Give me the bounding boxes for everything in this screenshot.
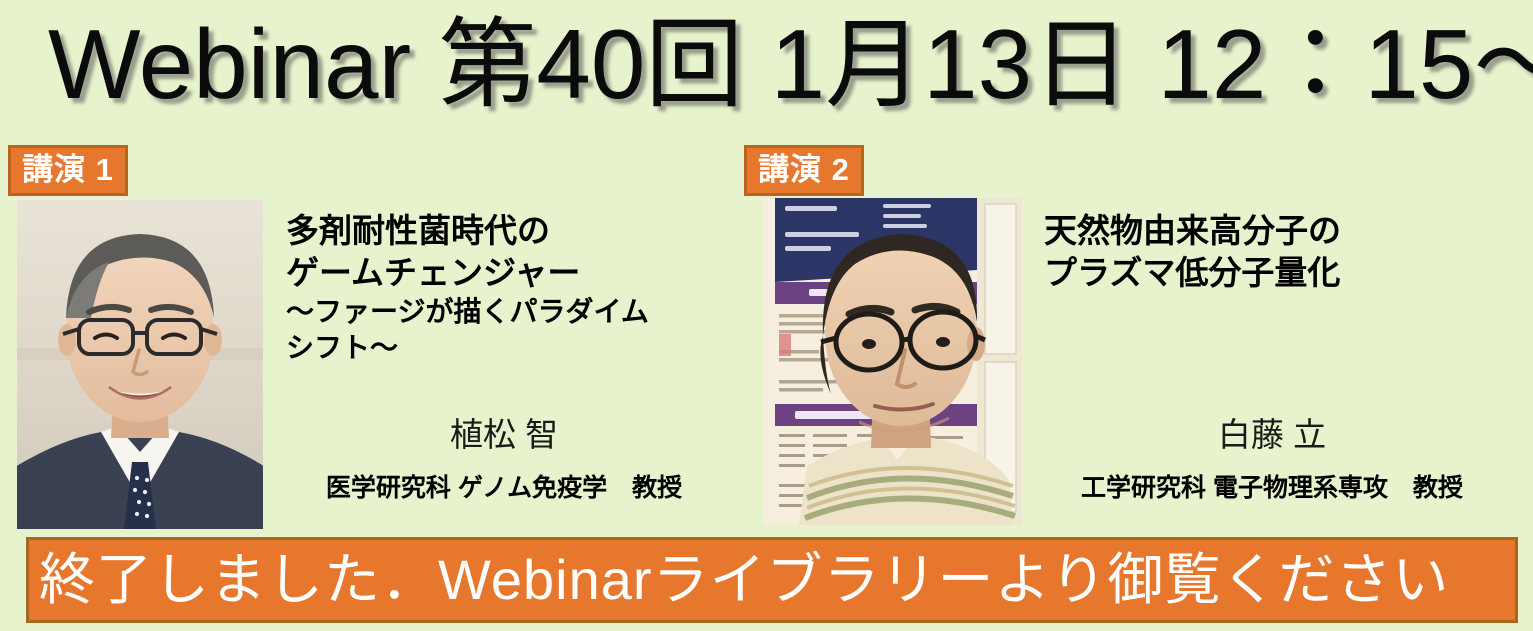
portrait-illustration-1 bbox=[17, 200, 263, 529]
lecture-1-subtitle-line-1: ～ファージが描くパラダイム bbox=[286, 294, 726, 330]
speaker-1-info: 植松 智 医学研究科 ゲノム免疫学 教授 bbox=[286, 415, 722, 505]
lecture-1-title-line-2: ゲームチェンジャー bbox=[286, 252, 726, 294]
speaker-2-name: 白藤 立 bbox=[1044, 415, 1500, 455]
page-title: Webinar 第40回 1月13日 12：15～ bbox=[48, 6, 1533, 122]
speaker-1-affiliation: 医学研究科 ゲノム免疫学 教授 bbox=[286, 471, 722, 505]
status-banner: 終了しました．Webinarライブラリーより御覧ください bbox=[26, 537, 1518, 623]
lecture-1-title-line-1: 多剤耐性菌時代の bbox=[286, 210, 726, 252]
lecture-2-title-line-1: 天然物由来高分子の bbox=[1044, 210, 1494, 252]
lecture-1-subtitle-line-2: シフト～ bbox=[286, 330, 726, 366]
speaker-photo-1 bbox=[17, 200, 263, 529]
webinar-poster: Webinar 第40回 1月13日 12：15～ 講演 1 bbox=[0, 0, 1533, 631]
lecture-2-title: 天然物由来高分子の プラズマ低分子量化 bbox=[1044, 210, 1494, 294]
lecture-2-title-line-2: プラズマ低分子量化 bbox=[1044, 252, 1494, 294]
speaker-2-info: 白藤 立 工学研究科 電子物理系専攻 教授 bbox=[1044, 415, 1500, 505]
lecture-badge-2: 講演 2 bbox=[744, 145, 864, 196]
speaker-photo-2 bbox=[763, 198, 1022, 525]
speaker-2-affiliation: 工学研究科 電子物理系専攻 教授 bbox=[1044, 471, 1500, 505]
speaker-1-name: 植松 智 bbox=[286, 415, 722, 455]
lecture-1-title: 多剤耐性菌時代の ゲームチェンジャー ～ファージが描くパラダイム シフト～ bbox=[286, 210, 726, 366]
portrait-illustration-2 bbox=[763, 198, 1022, 525]
lecture-badge-1: 講演 1 bbox=[8, 145, 128, 196]
